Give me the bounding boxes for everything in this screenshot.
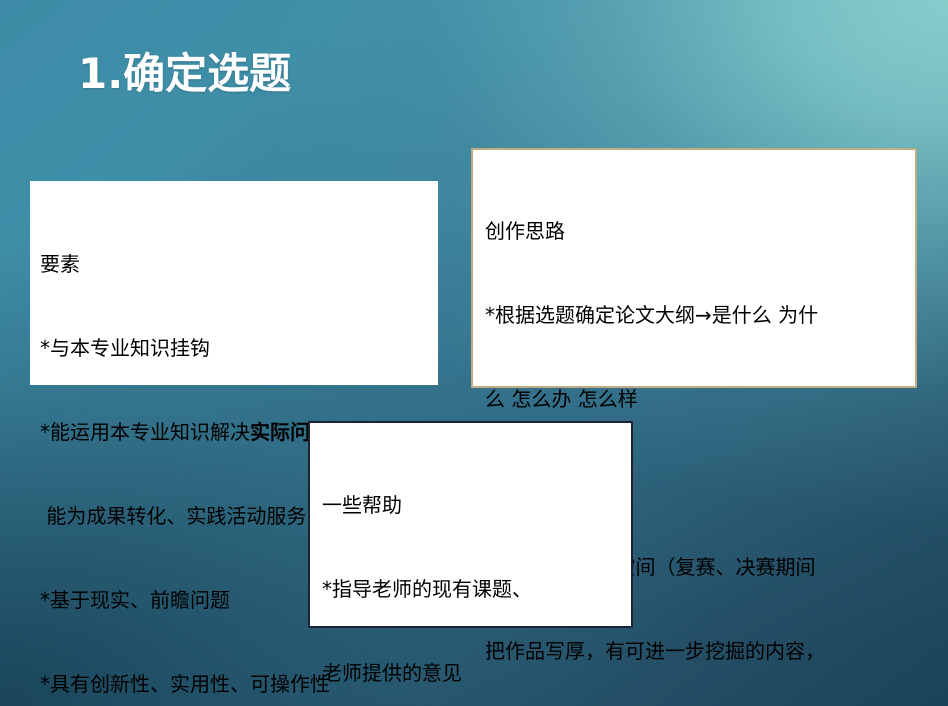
ideas-line-3: 么 怎么办 怎么样 [485,385,907,413]
slide-title: 1.确定选题 [78,50,291,98]
help-line-1: 一些帮助 [322,491,623,519]
ideas-line-2: *根据选题确定论文大纲→是什么 为什 [485,301,907,329]
text-box-help: 一些帮助 *指导老师的现有课题、 老师提供的意见 *附件中的《参考选题》， 尽量… [308,421,633,628]
help-line-3: 老师提供的意见 [322,659,623,687]
text-box-ideas: 创作思路 *根据选题确定论文大纲→是什么 为什 么 怎么办 怎么样 *体现时代特… [471,148,917,388]
ideas-line-1: 创作思路 [485,217,907,245]
presentation-slide: 1.确定选题 要素 *与本专业知识挂钩 *能运用本专业知识解决实际问题 能为成果… [0,0,948,706]
elements-line-3-plain: *能运用本专业知识解决 [40,420,250,444]
elements-line-2: *与本专业知识挂钩 [40,334,429,362]
text-box-elements: 要素 *与本专业知识挂钩 *能运用本专业知识解决实际问题 能为成果转化、实践活动… [30,181,438,385]
elements-line-1: 要素 [40,250,429,278]
help-line-2: *指导老师的现有课题、 [322,575,623,603]
